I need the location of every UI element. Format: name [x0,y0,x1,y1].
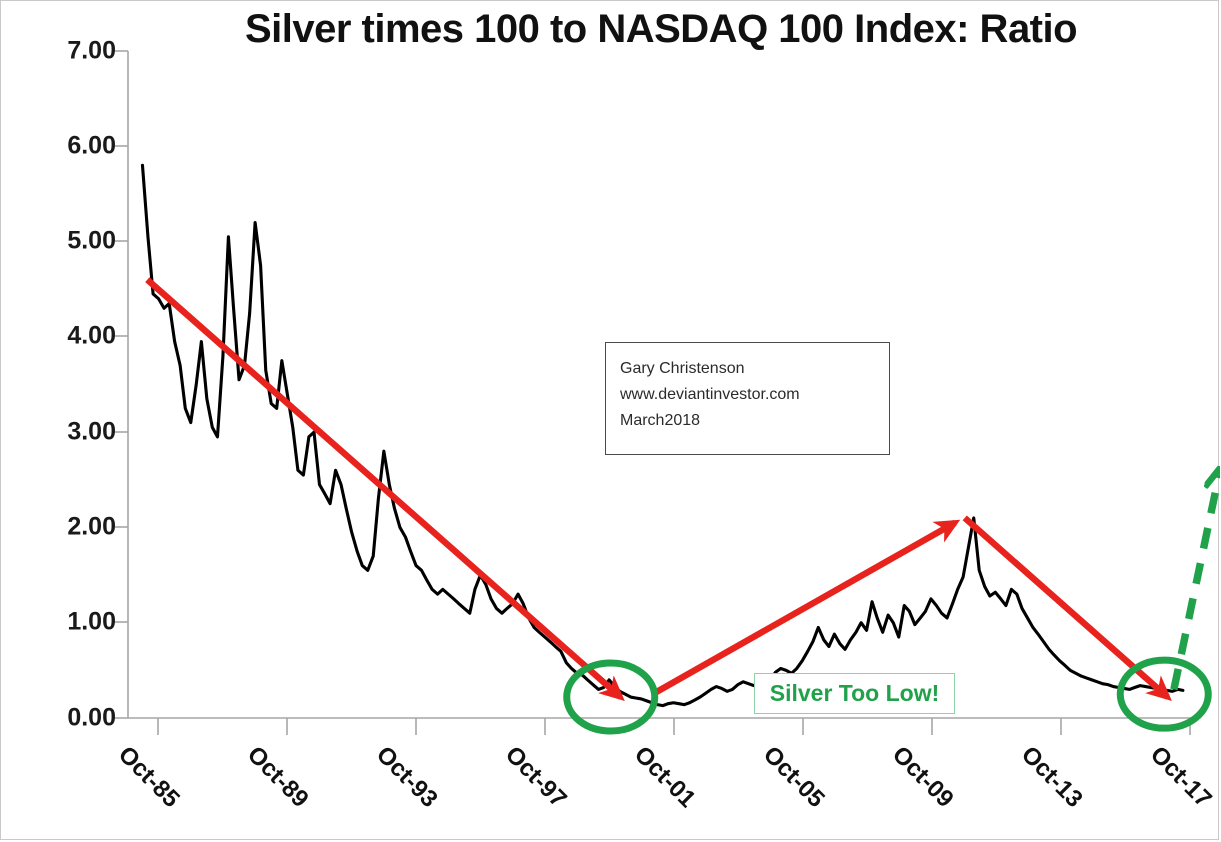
credit-author: Gary Christenson [620,356,889,382]
credit-textbox: Gary Christenson www.deviantinvestor.com… [605,342,890,455]
y-tick-label-7: 7.00 [26,37,116,66]
y-tick-label-5: 5.00 [26,227,116,256]
y-tick-label-1: 1.00 [26,608,116,637]
forecast-arrow-up [1174,475,1219,689]
credit-website: www.deviantinvestor.com [620,382,889,408]
silver-too-low-callout: Silver Too Low! [754,673,955,714]
credit-date: March2018 [620,408,889,434]
x-axis-ticks [158,718,1190,735]
uptrend-arrow-2001-2011 [653,523,956,695]
y-tick-label-0: 0.00 [26,704,116,733]
y-tick-label-4: 4.00 [26,322,116,351]
silver-too-low-label: Silver Too Low! [770,680,940,707]
downtrend-arrow-1985-2000 [147,280,620,697]
y-tick-label-3: 3.00 [26,418,116,447]
low-circle-2000 [567,663,655,731]
y-axis-ticks [115,51,128,718]
y-tick-label-2: 2.00 [26,513,116,542]
chart-frame: Silver times 100 to NASDAQ 100 Index: Ra… [0,0,1219,840]
y-tick-label-6: 6.00 [26,132,116,161]
